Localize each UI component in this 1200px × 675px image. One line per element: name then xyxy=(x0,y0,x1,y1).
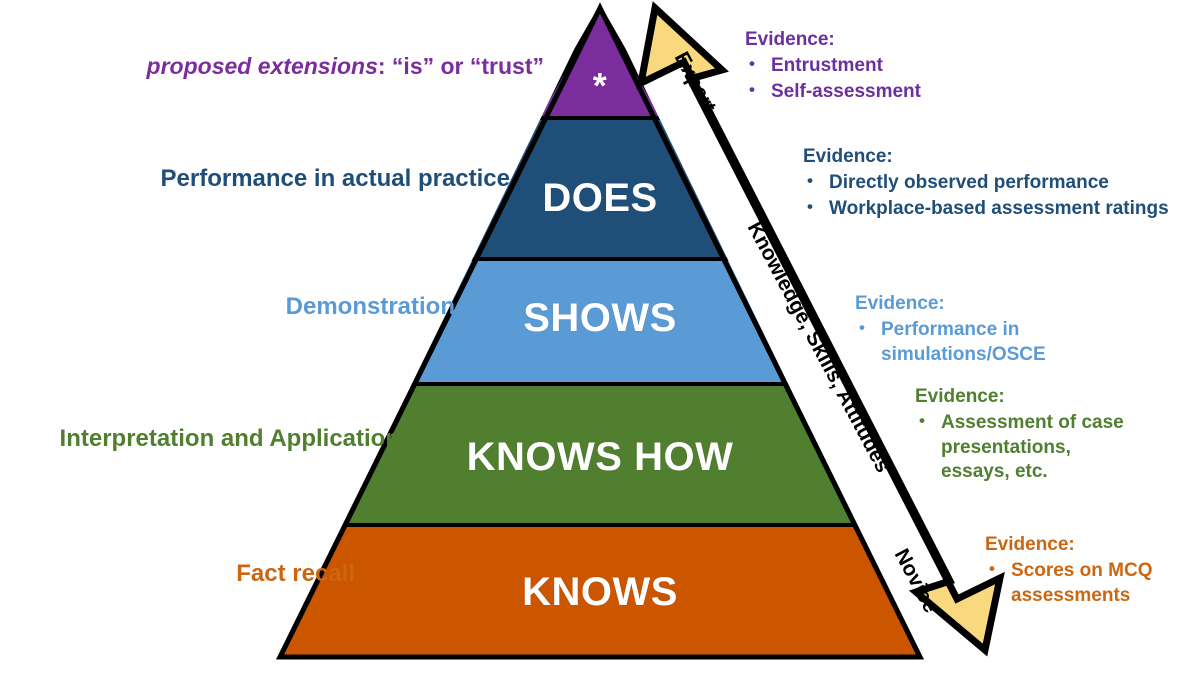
bullet-icon: • xyxy=(989,558,995,580)
evidence-item: •Entrustment xyxy=(745,54,921,78)
evidence-item-text: Performance in simulations/OSCE xyxy=(881,319,1046,364)
pyramid-figure: * DOES SHOWS KNOWS HOW KNOWS proposed ex… xyxy=(0,0,1200,675)
evidence-item: •Directly observed performance xyxy=(803,171,1169,195)
evidence-heading: Evidence: xyxy=(915,385,1130,409)
evidence-item: •Workplace-based assessment ratings xyxy=(803,197,1169,221)
evidence-list: •Assessment of case presentations, essay… xyxy=(915,411,1130,484)
evidence-heading: Evidence: xyxy=(985,533,1180,557)
bullet-icon: • xyxy=(749,53,755,75)
evidence-list: •Scores on MCQ assessments xyxy=(985,559,1180,608)
bullet-icon: • xyxy=(807,170,813,192)
bullet-icon: • xyxy=(859,317,865,339)
evidence-block-knows-how: Evidence: •Assessment of case presentati… xyxy=(915,385,1130,485)
evidence-item: •Performance in simulations/OSCE xyxy=(855,318,1056,367)
evidence-block-does: Evidence: •Directly observed performance… xyxy=(803,145,1169,222)
evidence-item-text: Self-assessment xyxy=(771,81,921,102)
evidence-item: •Self-assessment xyxy=(745,80,921,104)
evidence-block-extension: Evidence: •Entrustment •Self-assessment xyxy=(745,28,921,105)
evidence-item: •Assessment of case presentations, essay… xyxy=(915,411,1130,484)
evidence-item-text: Directly observed performance xyxy=(829,172,1109,193)
evidence-list: •Directly observed performance •Workplac… xyxy=(803,171,1169,221)
bullet-icon: • xyxy=(749,79,755,101)
evidence-item-text: Workplace-based assessment ratings xyxy=(829,198,1169,219)
bullet-icon: • xyxy=(807,196,813,218)
evidence-block-knows: Evidence: •Scores on MCQ assessments xyxy=(985,533,1180,609)
evidence-heading: Evidence: xyxy=(803,145,1169,169)
evidence-item-text: Assessment of case presentations, essays… xyxy=(941,412,1124,482)
evidence-list: •Entrustment •Self-assessment xyxy=(745,54,921,104)
evidence-item: •Scores on MCQ assessments xyxy=(985,559,1180,608)
evidence-heading: Evidence: xyxy=(745,28,921,52)
bullet-icon: • xyxy=(919,410,925,432)
evidence-item-text: Entrustment xyxy=(771,55,883,76)
evidence-heading: Evidence: xyxy=(855,292,1056,316)
evidence-block-shows: Evidence: •Performance in simulations/OS… xyxy=(855,292,1056,368)
evidence-list: •Performance in simulations/OSCE xyxy=(855,318,1056,367)
evidence-item-text: Scores on MCQ assessments xyxy=(1011,560,1152,605)
